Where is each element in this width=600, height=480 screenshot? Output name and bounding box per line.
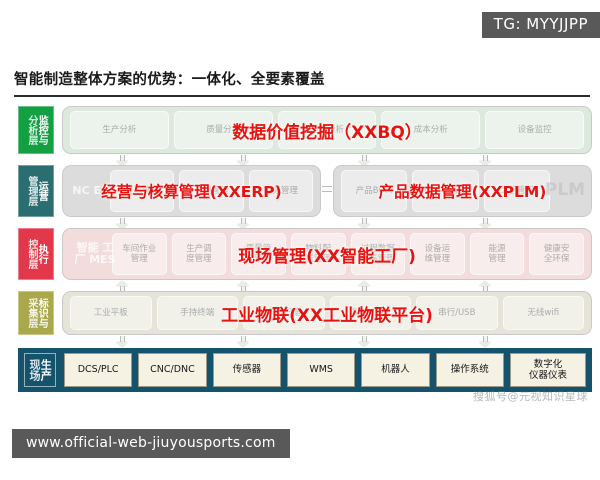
- layer-band-execution-control: 智能 工厂 MES 车间作业 管理 生产调 度管理 质量管 理管理 物料配 送管…: [62, 228, 592, 280]
- module-cell[interactable]: 车间作业 管理: [112, 233, 167, 275]
- module-cell[interactable]: 财务管理: [249, 170, 313, 212]
- module-cell[interactable]: 能源 管理: [470, 233, 525, 275]
- page-title: 智能制造整体方案的优势：一体化、全要素覆盖: [14, 68, 590, 89]
- module-cell[interactable]: 条码扫描: [243, 296, 325, 330]
- layer-row-monitor-analysis: 监控与 分析层 生产分析 质量分析 能效分析 成本分析 设备监控 数据价值挖掘（…: [0, 106, 600, 154]
- layer-row-execution-control: 执行 控制层 智能 工厂 MES 车间作业 管理 生产调 度管理 质量管 理管理…: [0, 228, 600, 280]
- layer-label-execution-control: 执行 控制层: [18, 228, 54, 280]
- module-cell[interactable]: 生产分析: [70, 111, 169, 149]
- module-cell[interactable]: 工艺管理: [484, 170, 550, 212]
- module-cell[interactable]: 成本分析: [381, 111, 480, 149]
- layer-row-operation-management: 运营 管理层 NC ERP 订单管理 计划管理 财务管理 经营与核算管理(XXE…: [0, 165, 600, 217]
- module-cell[interactable]: 图文档管理: [412, 170, 478, 212]
- architecture-diagram: 监控与 分析层 生产分析 质量分析 能效分析 成本分析 设备监控 数据价值挖掘（…: [0, 106, 600, 392]
- module-cell[interactable]: 设备运 维管理: [410, 233, 465, 275]
- arrow-down-icon: [116, 336, 129, 347]
- site-cell[interactable]: 操作系统: [436, 353, 504, 387]
- layer-label-back-text: 控制层: [26, 238, 36, 270]
- title-divider: [14, 95, 590, 97]
- sohu-watermark: 搜狐号@元视知识星球: [473, 388, 588, 404]
- layer-label-front-text: 生产: [40, 358, 51, 382]
- layer-label-production-site: 生产 现场: [24, 353, 56, 387]
- site-cell[interactable]: DCS/PLC: [64, 353, 132, 387]
- arrow-down-icon: [237, 336, 250, 347]
- page-title-wrapper: 智能制造整体方案的优势：一体化、全要素覆盖: [14, 68, 590, 97]
- module-cell[interactable]: 生产调 度管理: [172, 233, 227, 275]
- arrow-down-icon: [479, 336, 492, 347]
- module-cell[interactable]: RFID识别: [330, 296, 412, 330]
- url-bar: www.official-web-jiuyousports.com: [12, 429, 290, 458]
- layer-label-back-text: 分析层: [26, 114, 36, 146]
- site-cell[interactable]: 数字化 仪器仪表: [510, 353, 586, 387]
- module-cell[interactable]: 能效分析: [278, 111, 377, 149]
- layer-row-identify-collect: 标识与 采集层 工业平板 手持终端 条码扫描 RFID识别 串行/USB 无线w…: [0, 291, 600, 335]
- layer-label-back-text: 采集层: [26, 297, 36, 329]
- layer-band-operation-management: NC ERP 订单管理 计划管理 财务管理 经营与核算管理(XXERP) 产品B…: [62, 165, 592, 217]
- module-cell[interactable]: 物料配 送管理: [291, 233, 346, 275]
- module-cell[interactable]: 过程数据 采集管理: [351, 233, 406, 275]
- module-cell[interactable]: 设备监控: [485, 111, 584, 149]
- production-site-cell-list: DCS/PLC CNC/DNC 传感器 WMS 机器人 操作系统 数字化 仪器仪…: [64, 353, 586, 387]
- subband-erp: NC ERP 订单管理 计划管理 财务管理 经营与核算管理(XXERP): [62, 165, 321, 217]
- site-cell[interactable]: WMS: [287, 353, 355, 387]
- layer-label-operation-management: 运营 管理层: [18, 165, 54, 217]
- site-cell[interactable]: 传感器: [213, 353, 281, 387]
- layer-label-identify-collect: 标识与 采集层: [18, 291, 54, 335]
- module-cell[interactable]: 计划管理: [179, 170, 243, 212]
- site-cell[interactable]: 机器人: [361, 353, 429, 387]
- module-cell[interactable]: 质量管 理管理: [231, 233, 286, 275]
- tg-badge: TG: MYYJJPP: [482, 12, 600, 38]
- layer-label-back-text: 现场: [29, 358, 40, 382]
- layer-band-monitor-analysis: 生产分析 质量分析 能效分析 成本分析 设备监控 数据价值挖掘（XXBQ）: [62, 106, 592, 154]
- module-cell[interactable]: 工业平板: [70, 296, 152, 330]
- module-cell[interactable]: 订单管理: [110, 170, 174, 212]
- arrow-down-icon: [358, 336, 371, 347]
- module-cell[interactable]: 产品BOM: [341, 170, 407, 212]
- module-cell[interactable]: 串行/USB: [416, 296, 498, 330]
- plm-watermark: PLM: [545, 166, 585, 216]
- subband-plm: 产品BOM 图文档管理 工艺管理 PLM 产品数据管理(XXPLM): [333, 165, 592, 217]
- layer-label-front-text: 执行: [36, 243, 46, 265]
- site-cell[interactable]: CNC/DNC: [138, 353, 206, 387]
- layer-label-monitor-analysis: 监控与 分析层: [18, 106, 54, 154]
- layer-label-front-text: 运营: [36, 180, 46, 202]
- module-cell[interactable]: 健康安 全环保: [529, 233, 584, 275]
- module-cell[interactable]: 无线wifi: [503, 296, 585, 330]
- connector-group-4: [0, 336, 600, 347]
- layer-band-identify-collect: 工业平板 手持终端 条码扫描 RFID识别 串行/USB 无线wifi 工业物联…: [62, 291, 592, 335]
- layer-label-back-text: 管理层: [26, 175, 36, 207]
- module-cell[interactable]: 质量分析: [174, 111, 273, 149]
- module-cell[interactable]: 手持终端: [157, 296, 239, 330]
- layer-label-front-text: 监控与: [36, 114, 46, 146]
- layer-row-production-site: 生产 现场 DCS/PLC CNC/DNC 传感器 WMS 机器人 操作系统 数…: [18, 348, 592, 392]
- layer-label-front-text: 标识与: [36, 297, 46, 329]
